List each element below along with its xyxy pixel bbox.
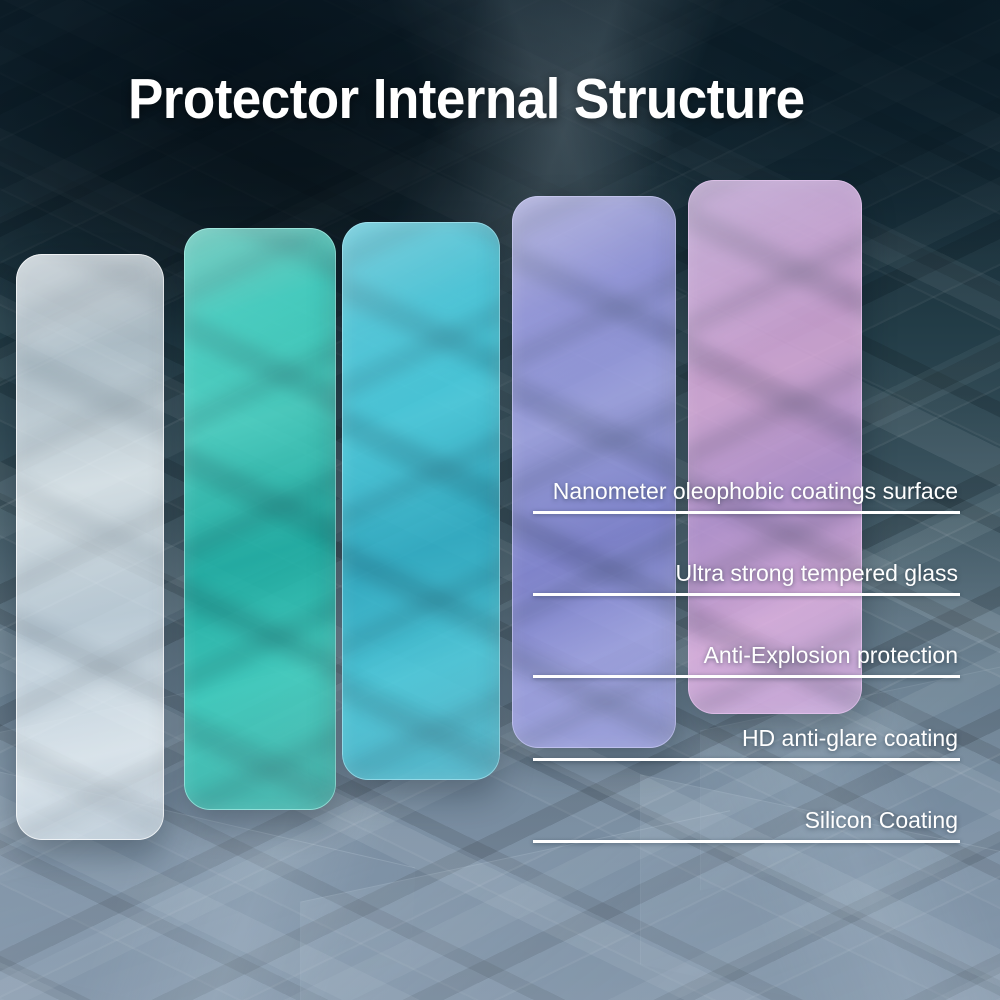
page-title: Protector Internal Structure	[128, 68, 805, 130]
feature-label: Silicon Coating	[805, 807, 958, 833]
feature-callout-5: Silicon Coating	[533, 784, 980, 843]
protector-layer-clear-white	[16, 254, 164, 840]
layer-edge	[184, 228, 336, 810]
feature-underline	[533, 758, 960, 761]
layer-edge	[342, 222, 500, 780]
feature-underline	[533, 840, 960, 843]
feature-label: Anti-Explosion protection	[704, 642, 958, 668]
feature-underline	[533, 675, 960, 678]
feature-underline	[533, 593, 960, 596]
feature-label: HD anti-glare coating	[742, 725, 958, 751]
product-infographic: Protector Internal Structure Nanom	[0, 0, 1000, 1000]
feature-callout-2: Ultra strong tempered glass	[533, 537, 980, 596]
feature-callout-1: Nanometer oleophobic coatings surface	[533, 455, 980, 514]
feature-underline	[533, 511, 960, 514]
protector-layer-teal	[184, 228, 336, 810]
feature-label: Ultra strong tempered glass	[675, 560, 958, 586]
feature-label: Nanometer oleophobic coatings surface	[553, 478, 958, 504]
feature-callout-3: Anti-Explosion protection	[533, 619, 980, 678]
feature-callout-4: HD anti-glare coating	[533, 702, 980, 761]
layer-edge	[16, 254, 164, 840]
protector-layer-cyan	[342, 222, 500, 780]
